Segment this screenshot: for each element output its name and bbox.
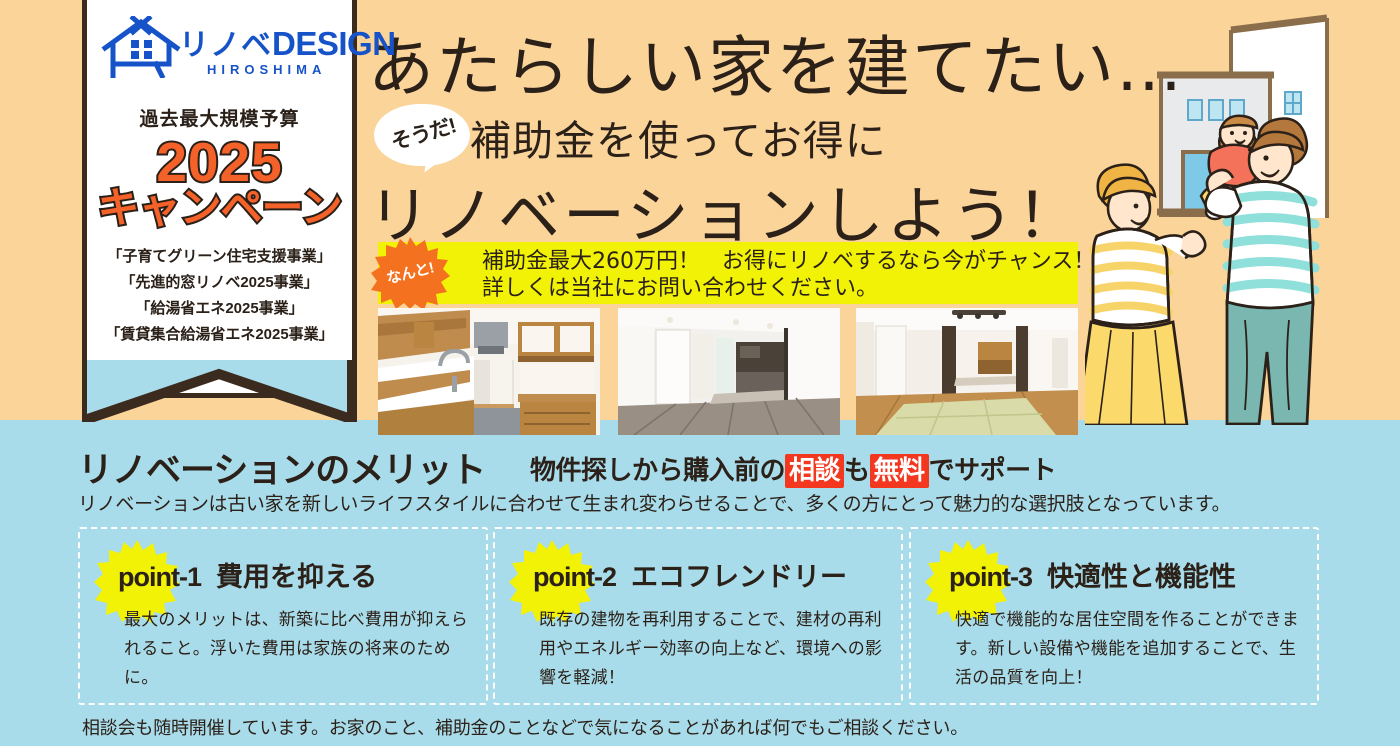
subsidy-program-list: 「子育てグリーン住宅支援事業」 「先進的窓リノベ2025事業」 「給湯省エネ20… (87, 244, 352, 348)
merit-card-body: 快適で機能的な居住空間を作ることができます。新しい設備や機能を追加することで、生… (955, 605, 1303, 692)
kitchen-photo (378, 308, 600, 435)
brand-logo: リノベDESIGN HIROSHIMA (87, 16, 352, 82)
merit-card-heading: 費用を抑える (216, 562, 377, 592)
merit-heading: リノベーションのメリット (78, 442, 485, 493)
house-line-icon (99, 16, 183, 78)
program-item-2: 「先進的窓リノベ2025事業」 (87, 270, 352, 296)
merit-sub-mid: も (844, 455, 870, 485)
bubble-tail (424, 149, 447, 176)
program-item-1: 「子育てグリーン住宅支援事業」 (87, 244, 352, 270)
merit-card-title: point-2 エコフレンドリー (533, 555, 913, 594)
logo-latin: DESIGN (272, 25, 396, 62)
nanto-starburst-badge: なんと! (370, 236, 450, 310)
merit-sub-pre: 物件探しから購入前の (530, 455, 785, 485)
merit-highlight-soudan: 相談 (785, 454, 844, 488)
logo-region: HIROSHIMA (207, 62, 326, 77)
merit-card-badge: point-1 (118, 562, 201, 592)
merit-card-heading: エコフレンドリー (631, 562, 847, 592)
merit-card: point-2 エコフレンドリー 既存の建物を再利用することで、建材の再利用やエ… (493, 527, 903, 705)
campaign-ribbon-panel: リノベDESIGN HIROSHIMA 過去最大規模予算 2025 キャンペーン… (82, 0, 357, 398)
merit-card-heading: 快適性と機能性 (1047, 562, 1236, 592)
merit-subheading: 物件探しから購入前の相談も無料でサポート (530, 450, 1056, 487)
merit-sub-post: でサポート (929, 455, 1057, 485)
promo-text: 補助金最大260万円！ お得にリノベするなら今がチャンス！ 詳しくは当社にお問い… (482, 248, 1072, 302)
program-item-4: 「賃貸集合給湯省エネ2025事業」 (87, 322, 352, 348)
promo-line-1: 補助金最大260万円！ お得にリノベするなら今がチャンス！ (482, 248, 1072, 275)
logo-wordmark: リノベDESIGN (179, 20, 396, 64)
merit-lead-text: リノベーションは古い家を新しいライフスタイルに合わせて生まれ変わらせることで、多… (78, 489, 1230, 516)
merit-card-badge: point-3 (949, 562, 1032, 592)
merit-card-body: 既存の建物を再利用することで、建材の再利用やエネルギー効率の向上など、環境への影… (539, 605, 887, 692)
souda-speech-bubble: そうだ! (374, 104, 470, 166)
logo-kana: リノベ (179, 29, 272, 62)
merit-card-badge: point-2 (533, 562, 616, 592)
merit-card: point-1 費用を抑える 最大のメリットは、新築に比べ費用が抑えられること。… (78, 527, 488, 705)
hallway-ldk-photo (618, 308, 840, 435)
hero-headline-1: あたらしい家を建てたい… (368, 14, 1184, 110)
promo-line-2: 詳しくは当社にお問い合わせください。 (482, 275, 1072, 302)
merit-highlight-muryou: 無料 (870, 454, 929, 488)
ribbon-bottom-notch (82, 360, 357, 422)
merit-card-body: 最大のメリットは、新築に比べ費用が抑えられること。浮いた費用は家族の将来のために… (124, 605, 472, 692)
merit-card-title: point-3 快適性と機能性 (949, 555, 1329, 594)
campaign-word: キャンペーン (87, 184, 352, 232)
hero-headline-2: 補助金を使ってお得に (470, 107, 887, 167)
merit-card: point-3 快適性と機能性 快適で機能的な居住空間を作ることができます。新し… (909, 527, 1319, 705)
campaign-year: 2025 (87, 134, 352, 190)
program-item-3: 「給湯省エネ2025事業」 (87, 296, 352, 322)
banner-stage: あたらしい家を建てたい… そうだ! 補助金を使ってお得に リノベーションしよう！… (0, 0, 1400, 746)
merit-card-title: point-1 費用を抑える (118, 555, 498, 594)
tatami-room-photo (856, 308, 1078, 435)
footnote-text: 相談会も随時開催しています。お家のこと、補助金のことなどで気になることがあれば何… (82, 714, 968, 740)
promo-bar: なんと! 補助金最大260万円！ お得にリノベするなら今がチャンス！ 詳しくは当… (378, 242, 1078, 304)
ribbon-tagline: 過去最大規模予算 (87, 104, 352, 131)
